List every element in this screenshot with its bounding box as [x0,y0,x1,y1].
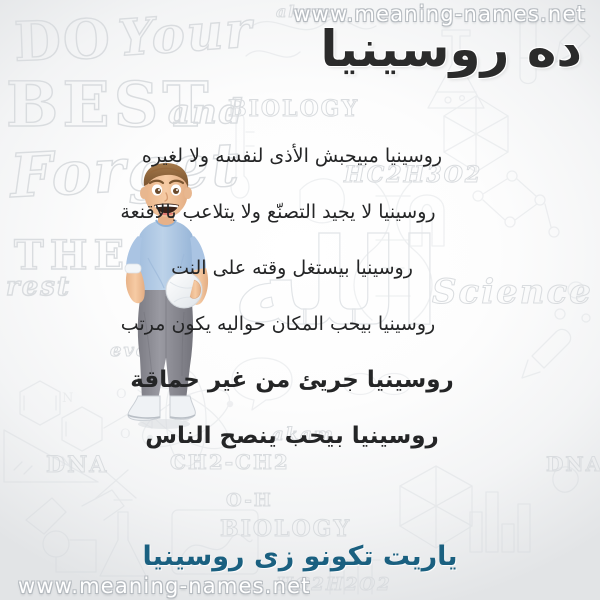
page-title: ده روسينيا [320,18,582,81]
footer-message: ياريت تكونو زى روسينيا [0,541,600,572]
image-canvas: N O O N [0,0,600,600]
watermark-bottom: www.meaning-names.net [18,574,311,598]
watermark-top: www.meaning-names.net [293,2,586,26]
background-gradient [0,0,600,600]
